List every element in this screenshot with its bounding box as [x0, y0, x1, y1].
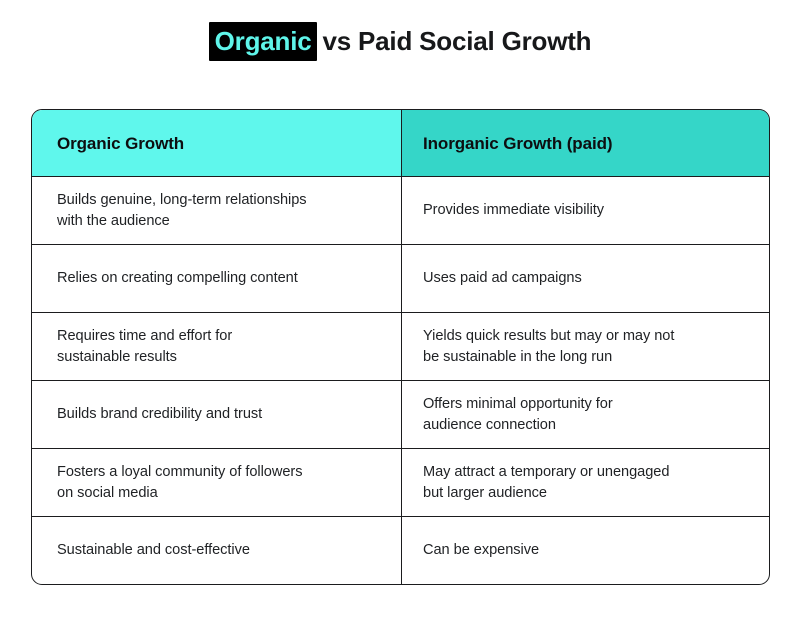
- title-remainder: vs Paid Social Growth: [317, 26, 591, 56]
- table-row: Builds brand credibility and trust Offer…: [32, 380, 769, 448]
- table-cell-organic: Requires time and effort for sustainable…: [32, 313, 402, 380]
- table-row: Requires time and effort for sustainable…: [32, 312, 769, 380]
- table-cell-text: Sustainable and cost-effective: [57, 540, 250, 561]
- table-cell-inorganic: Uses paid ad campaigns: [402, 245, 769, 312]
- comparison-infographic: Organicvs Paid Social Growth Organic Gro…: [0, 0, 800, 628]
- table-cell-inorganic: Yields quick results but may or may not …: [402, 313, 769, 380]
- table-cell-organic: Fosters a loyal community of followers o…: [32, 449, 402, 516]
- table-cell-text: May attract a temporary or unengaged but…: [423, 462, 669, 504]
- title-text: Organicvs Paid Social Growth: [209, 24, 592, 58]
- column-header-inorganic-growth: Inorganic Growth (paid): [402, 110, 769, 176]
- column-header-inorganic-growth-label: Inorganic Growth (paid): [423, 133, 612, 154]
- table-cell-organic: Relies on creating compelling content: [32, 245, 402, 312]
- table-cell-organic: Sustainable and cost-effective: [32, 517, 402, 584]
- table-cell-text: Requires time and effort for sustainable…: [57, 326, 232, 368]
- table-cell-organic: Builds genuine, long-term relationships …: [32, 177, 402, 244]
- column-header-organic-growth: Organic Growth: [32, 110, 402, 176]
- table-cell-organic: Builds brand credibility and trust: [32, 381, 402, 448]
- table-header-row: Organic Growth Inorganic Growth (paid): [32, 110, 769, 176]
- table-cell-text: Builds genuine, long-term relationships …: [57, 190, 307, 232]
- title-highlight-organic: Organic: [209, 22, 318, 61]
- table-cell-inorganic: May attract a temporary or unengaged but…: [402, 449, 769, 516]
- table-cell-text: Can be expensive: [423, 540, 539, 561]
- table-cell-text: Builds brand credibility and trust: [57, 404, 262, 425]
- table-row: Fosters a loyal community of followers o…: [32, 448, 769, 516]
- comparison-table: Organic Growth Inorganic Growth (paid) B…: [31, 109, 770, 585]
- column-header-organic-growth-label: Organic Growth: [57, 133, 184, 154]
- table-cell-inorganic: Offers minimal opportunity for audience …: [402, 381, 769, 448]
- table-cell-text: Uses paid ad campaigns: [423, 268, 582, 289]
- page-title: Organicvs Paid Social Growth: [0, 24, 800, 58]
- table-cell-text: Yields quick results but may or may not …: [423, 326, 674, 368]
- table-cell-text: Offers minimal opportunity for audience …: [423, 394, 613, 436]
- table-row: Relies on creating compelling content Us…: [32, 244, 769, 312]
- table-cell-text: Relies on creating compelling content: [57, 268, 298, 289]
- table-cell-text: Provides immediate visibility: [423, 200, 604, 221]
- table-cell-inorganic: Can be expensive: [402, 517, 769, 584]
- table-row: Builds genuine, long-term relationships …: [32, 176, 769, 244]
- table-row: Sustainable and cost-effective Can be ex…: [32, 516, 769, 584]
- table-cell-text: Fosters a loyal community of followers o…: [57, 462, 302, 504]
- table-cell-inorganic: Provides immediate visibility: [402, 177, 769, 244]
